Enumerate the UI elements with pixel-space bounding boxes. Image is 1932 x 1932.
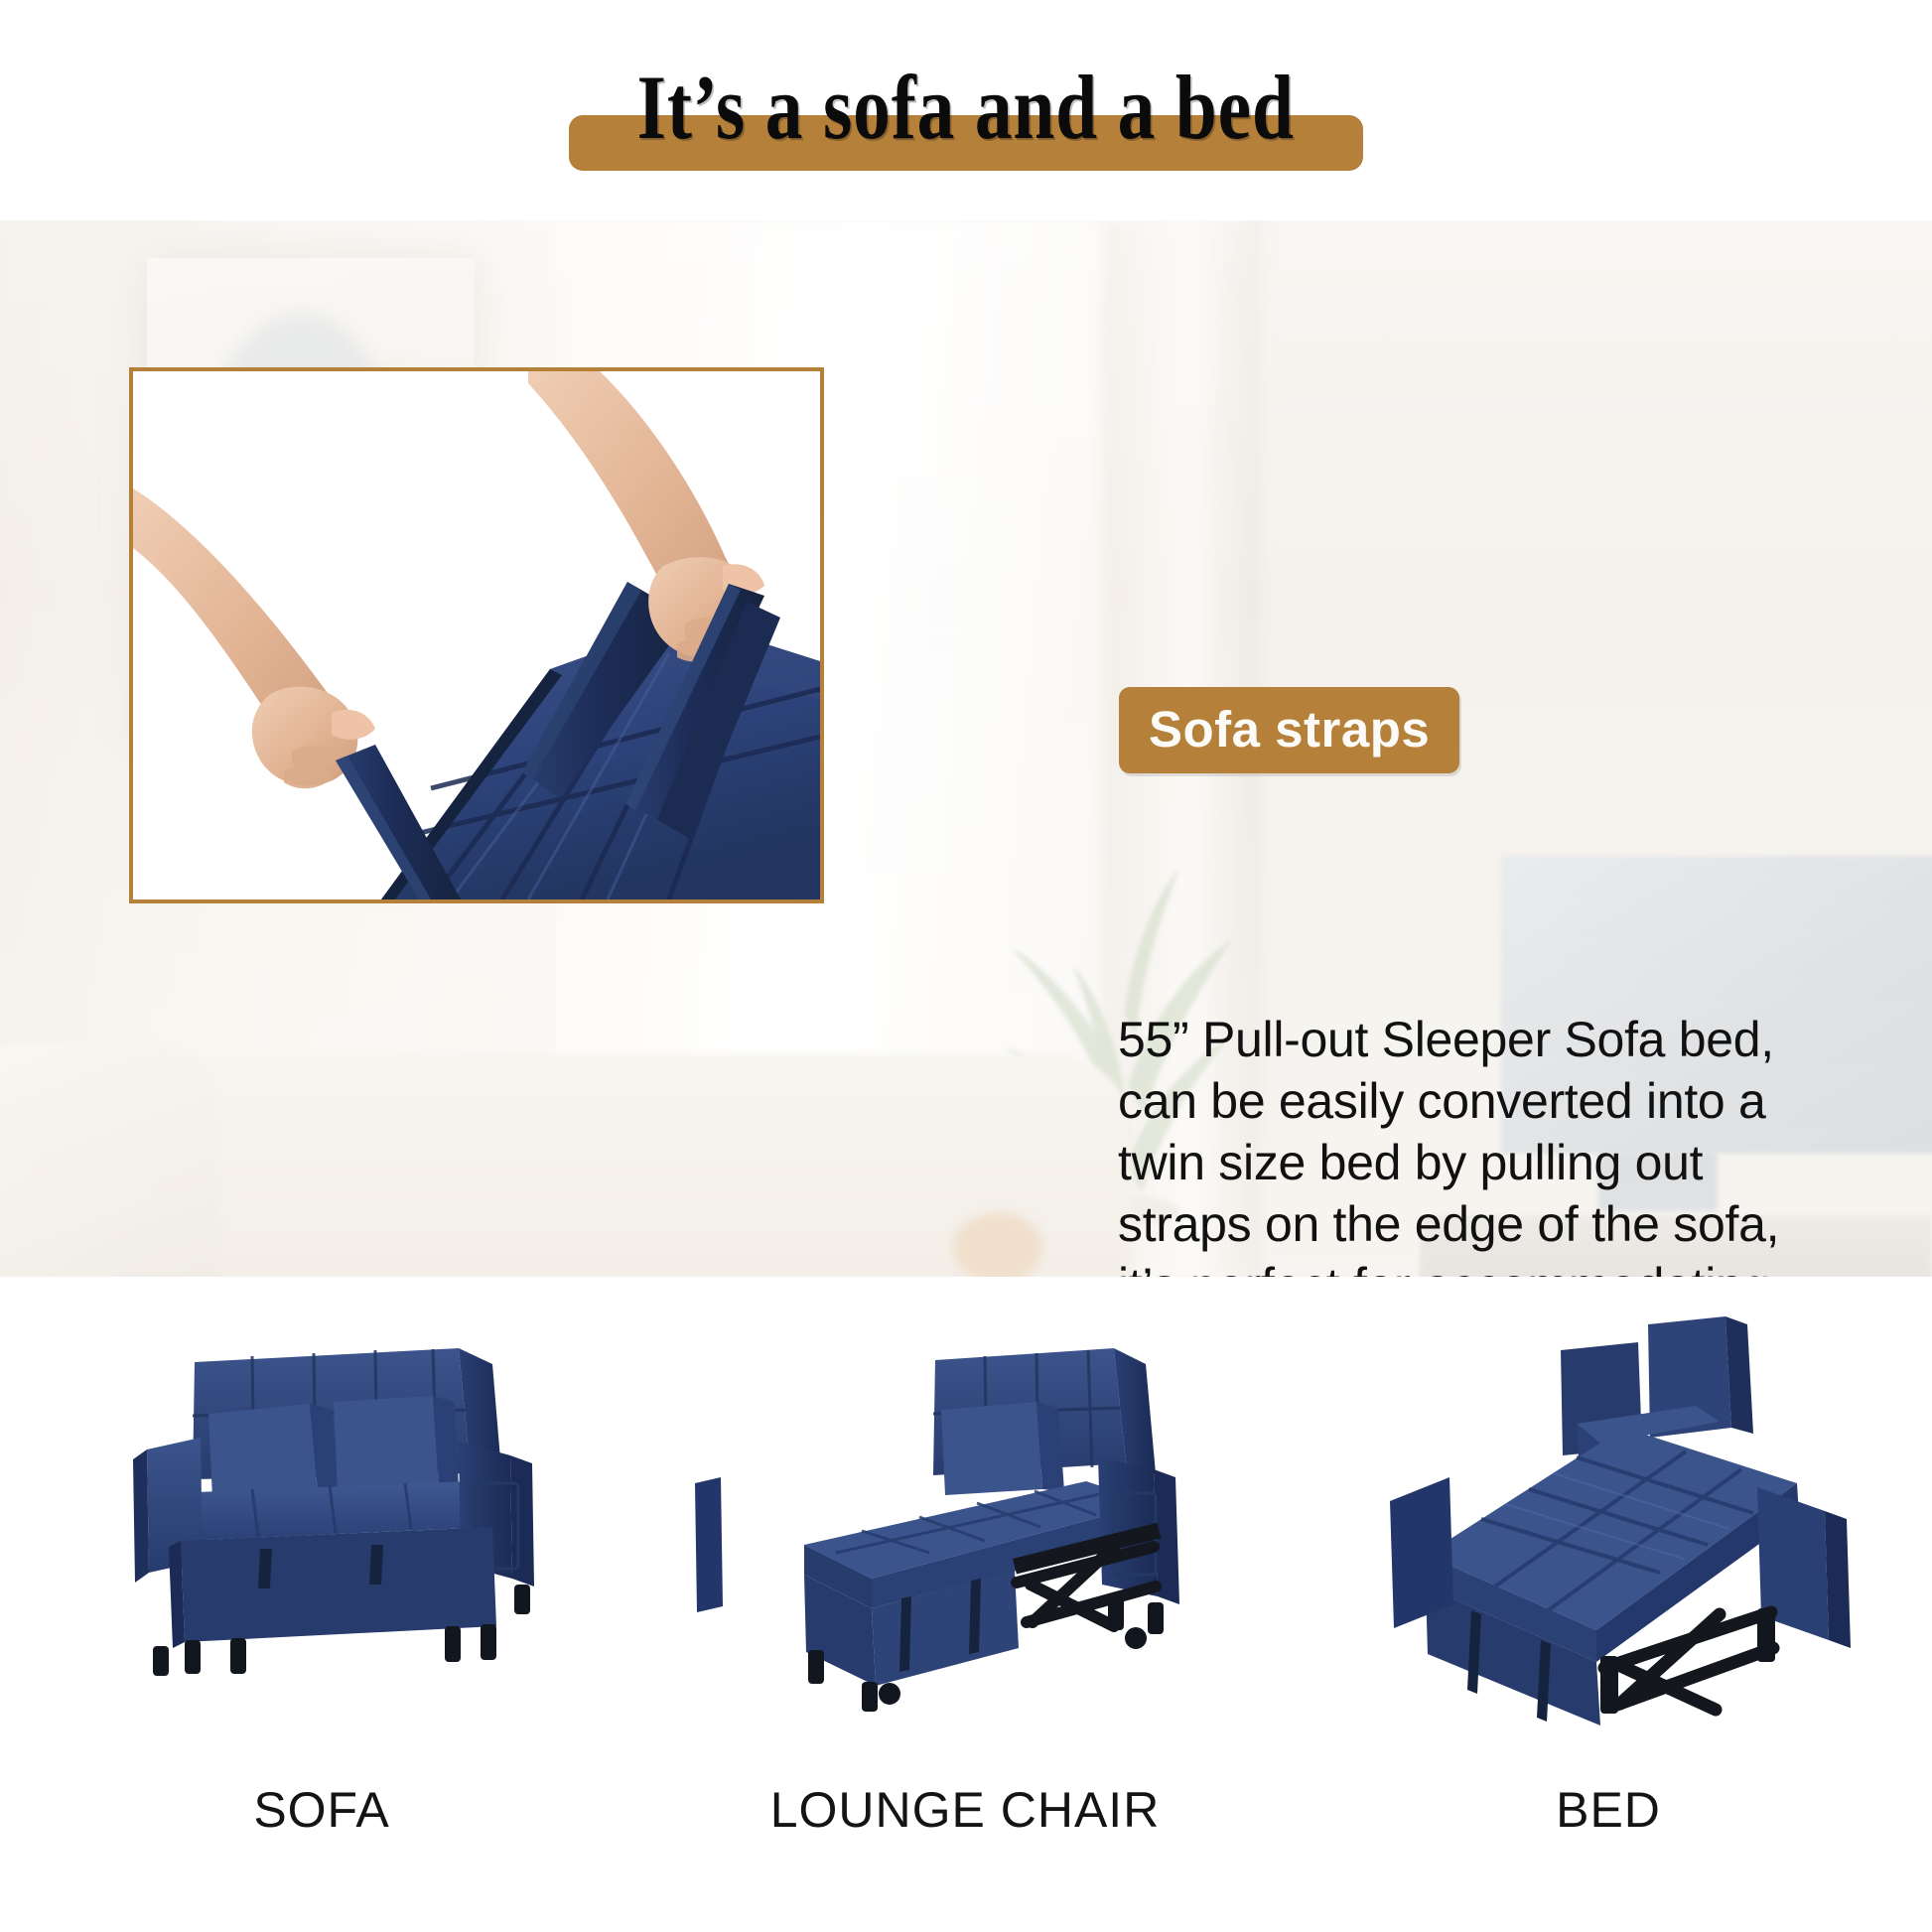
config-item-sofa[interactable]: SOFA bbox=[0, 1277, 643, 1932]
configurations-section: SOFA bbox=[0, 1277, 1932, 1932]
page-title: It’s a sofa and a bed bbox=[637, 52, 1295, 163]
bed-illustration bbox=[1330, 1299, 1886, 1725]
config-label-bed: BED bbox=[1556, 1785, 1661, 1835]
config-item-lounge-chair[interactable]: LOUNGE CHAIR bbox=[643, 1277, 1287, 1932]
feature-body-text: 55” Pull-out Sleeper Sofa bed, can be ea… bbox=[1118, 1009, 1813, 1277]
sofa-illustration bbox=[44, 1299, 600, 1725]
header-banner: It’s a sofa and a bed bbox=[0, 0, 1932, 220]
config-label-sofa: SOFA bbox=[253, 1785, 389, 1835]
lounge-chair-illustration bbox=[687, 1299, 1243, 1725]
sofa-straps-photo-inner bbox=[133, 371, 820, 899]
config-label-lounge-chair: LOUNGE CHAIR bbox=[770, 1785, 1161, 1835]
configurations-row: SOFA bbox=[0, 1277, 1932, 1932]
sofa-straps-photo bbox=[129, 367, 824, 903]
feature-section: Sofa straps 55” Pull-out Sleeper Sofa be… bbox=[0, 220, 1932, 1277]
config-item-bed[interactable]: BED bbox=[1287, 1277, 1930, 1932]
sofa-straps-badge: Sofa straps bbox=[1119, 687, 1459, 773]
hands-pulling-straps-illustration bbox=[133, 371, 820, 899]
page-title-wrap: It’s a sofa and a bed bbox=[0, 52, 1932, 181]
